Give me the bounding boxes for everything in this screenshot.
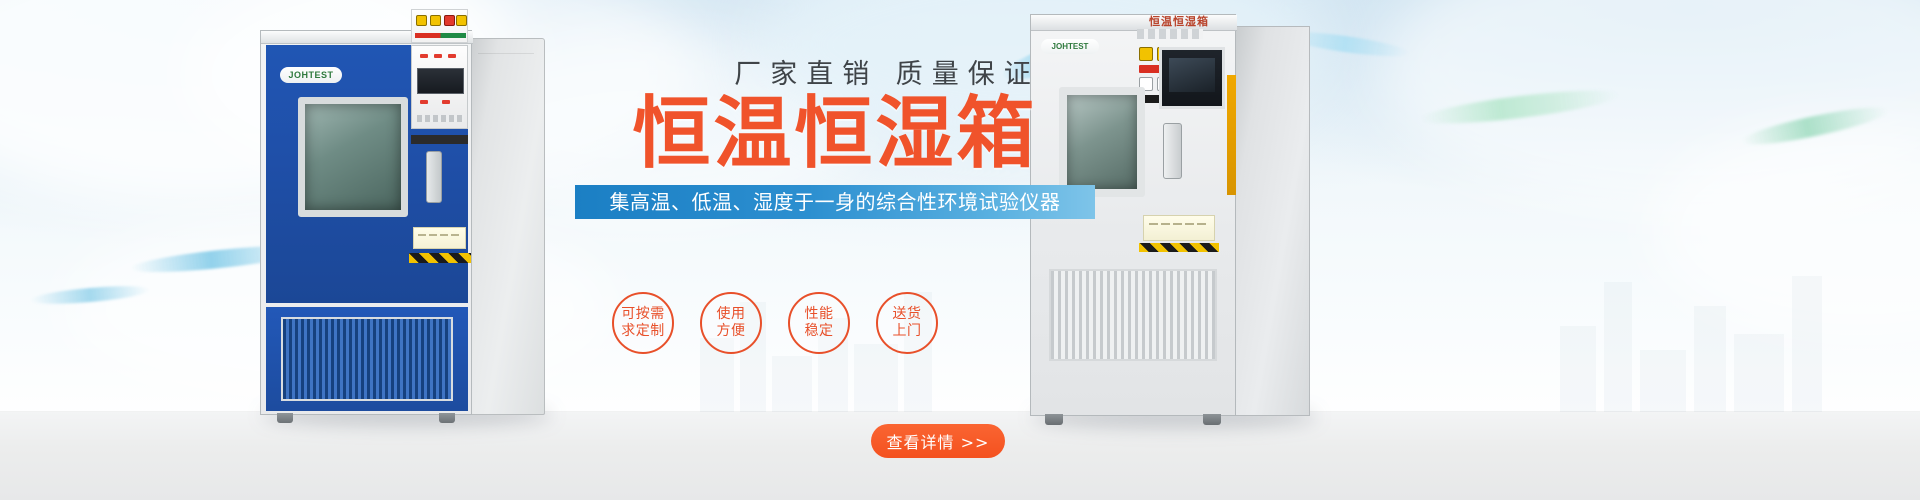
panel-display [1169, 58, 1215, 92]
ventilation-grille [281, 317, 453, 401]
chamber-side-panel [1230, 26, 1310, 416]
chamber-foot [1045, 414, 1063, 425]
feature-line-2: 上门 [893, 323, 922, 341]
control-panel-right[interactable] [1159, 47, 1225, 109]
swoosh-accent [1740, 101, 1891, 152]
feature-line-2: 方便 [717, 323, 746, 341]
feature-line-2: 稳定 [805, 323, 834, 341]
door-handle [426, 151, 442, 203]
headline-title: 恒温恒湿箱 [575, 95, 1095, 173]
chamber-foot [1203, 414, 1221, 425]
side-accent-strip [1227, 75, 1236, 195]
ventilation-grille [1049, 269, 1217, 361]
chamber-lower-body [266, 307, 468, 411]
banner-copy: 厂家直销 质量保证 恒温恒湿箱 集高温、低温、湿度于一身的综合性环境试验仪器 [575, 52, 1095, 219]
view-details-button[interactable]: 查看详情 >> [871, 424, 1005, 458]
product-image-left: JOHTEST [260, 30, 545, 415]
feature-line-1: 送货 [893, 306, 922, 324]
feature-circle-custom[interactable]: 可按需 求定制 [612, 292, 674, 354]
swoosh-accent [30, 283, 151, 307]
panel-nameplate-left [411, 135, 468, 144]
skyline-watermark [1560, 252, 1860, 422]
hazard-stripe [1139, 243, 1219, 252]
panel-display [417, 68, 464, 94]
brand-logo-left: JOHTEST [280, 67, 342, 83]
warning-sticker [1139, 47, 1153, 61]
feature-circle-delivery[interactable]: 送货 上门 [876, 292, 938, 354]
feature-circle-stable[interactable]: 性能 稳定 [788, 292, 850, 354]
spec-label [1143, 215, 1215, 241]
hazard-stripe [409, 253, 471, 263]
promo-banner: JOHTEST [0, 0, 1920, 500]
warning-sticker-cluster [411, 9, 468, 43]
control-panel-left[interactable] [411, 45, 468, 129]
feature-line-2: 求定制 [621, 323, 665, 341]
chamber-foot [439, 413, 455, 423]
cloud-shape [1650, 120, 1920, 340]
feature-line-1: 性能 [805, 306, 834, 324]
door-handle [1163, 123, 1182, 179]
label-strip [1137, 29, 1203, 39]
feature-line-1: 使用 [717, 306, 746, 324]
feature-line-1: 可按需 [621, 306, 665, 324]
feature-circle-group: 可按需 求定制 使用 方便 性能 稳定 送货 上门 [612, 292, 938, 354]
cloud-shape [1380, 0, 1920, 210]
eyebrow-tagline: 厂家直销 质量保证 [679, 52, 1095, 91]
feature-circle-easy-use[interactable]: 使用 方便 [700, 292, 762, 354]
swoosh-accent [1419, 84, 1620, 130]
chamber-side-panel [467, 38, 545, 415]
spec-label [413, 227, 466, 249]
subtitle-bar: 集高温、低温、湿度于一身的综合性环境试验仪器 [575, 185, 1095, 219]
chamber-foot [277, 413, 293, 423]
product-nameplate-right: 恒温恒湿箱 [1149, 13, 1229, 29]
chamber-front: JOHTEST [260, 30, 472, 415]
chamber-door-window [298, 97, 408, 217]
panel-button-row[interactable] [417, 115, 464, 122]
